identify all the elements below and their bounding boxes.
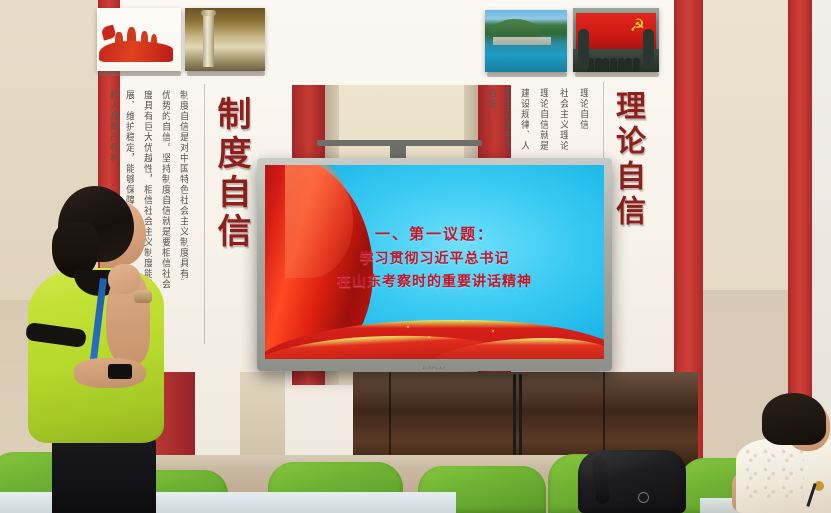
display-brand-mark: DISPLAY (423, 365, 447, 370)
divider-line-left (204, 84, 205, 344)
left-board-heading: 制度自信 (214, 96, 248, 252)
right-board-heading: 理论自信 (612, 90, 642, 230)
presenter-lower-body (52, 432, 156, 513)
slide-text-block: 一、第一议题： 学习贯彻习近平总书记 在山东考察时的重要讲话精神 (265, 223, 604, 291)
attendee-lace-pattern (744, 447, 804, 503)
black-backpack (578, 450, 686, 513)
photo-red-silhouette (97, 8, 181, 71)
photo-monument-tower (185, 8, 265, 71)
photo-shadow-1 (99, 71, 181, 76)
backpack-strap (592, 455, 611, 504)
slide-line-3: 在山东考察时的重要讲话精神 (265, 271, 604, 291)
red-column-right-outer (788, 0, 812, 420)
attendee-person (718, 395, 831, 513)
party-flag-troops-image: ☭ (573, 8, 659, 72)
left-board-column-5: 和人身财产权利。 (108, 90, 118, 200)
photo-coastal-landscape (485, 10, 567, 72)
right-board-column-3: 理论自信就是 (538, 88, 548, 162)
red-silhouette-artwork-image (97, 8, 181, 71)
presenter-badge (108, 364, 132, 379)
soldier-right (643, 29, 654, 70)
photo-shadow-3 (487, 72, 567, 77)
right-board-column-1: 理论自信 (578, 88, 588, 156)
tower-cap (201, 10, 216, 16)
slide-line-1: 一、第一议题： (265, 223, 604, 244)
attendee-hair (762, 393, 826, 445)
backpack-logo (638, 492, 649, 503)
left-board-column-1: 制度自信是对中国特色社会主义制度具有制度 (178, 90, 188, 280)
slide-line-2: 学习贯彻习近平总书记 (265, 248, 604, 268)
right-board-column-6: 自信。 (486, 88, 496, 124)
photo-party-flag-troops: ☭ (573, 8, 659, 72)
cabinet-sheen (353, 372, 698, 411)
right-board-column-2: 社会主义理论 (558, 88, 568, 162)
artwork-red-band (99, 41, 173, 62)
coast-cityscape (493, 37, 550, 44)
presenter-watch (134, 290, 152, 303)
photo-shadow-4 (575, 72, 659, 77)
coastal-landscape-image (485, 10, 567, 72)
interactive-display-panel[interactable]: 一、第一议题： 学习贯彻习近平总书记 在山东考察时的重要讲话精神 DISPLAY (257, 158, 612, 371)
soldier-left (578, 29, 589, 70)
classroom-scene: ☭ 制度自信是对中国特色社会主义制度具有制度 优势的自信。坚持制度自信就是要相信… (0, 0, 831, 513)
right-board-column-5: 坚定实现中华 (501, 88, 511, 162)
display-screen[interactable]: 一、第一议题： 学习贯彻习近平总书记 在山东考察时的重要讲话精神 (265, 165, 604, 359)
right-board-column-4: 建设规律、人 (519, 88, 529, 162)
tower-column (203, 13, 213, 67)
monument-tower-image (185, 8, 265, 71)
photo-shadow-2 (187, 71, 265, 76)
